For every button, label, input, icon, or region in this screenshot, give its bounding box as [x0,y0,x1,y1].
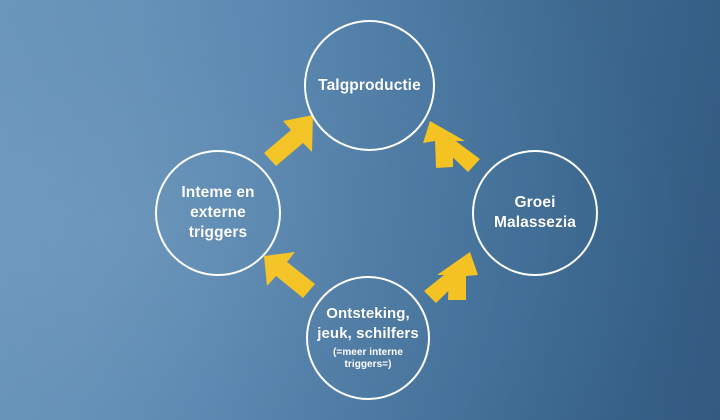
cycle-node-title: Groei Malassezia [494,193,576,233]
arrow-up-right-icon [258,110,320,170]
cycle-diagram-canvas: Talgproductie Groei Malassezia Ontstekin… [0,0,720,420]
cycle-node-interne-externe-triggers[interactable]: Inteme en externe triggers [155,150,281,276]
arrow-up-left-icon [258,248,322,310]
cycle-node-ontsteking-jeuk-schilfers[interactable]: Ontsteking, jeuk, schilfers (=meer inter… [306,276,430,400]
cycle-node-title: Talgproductie [318,76,421,96]
cycle-node-title: Ontsteking, jeuk, schilfers [317,304,419,342]
arrow-down-right-icon [420,115,486,179]
cycle-node-subtitle: (=meer interne triggers=) [333,347,403,372]
cycle-node-title: Inteme en externe triggers [181,183,254,242]
cycle-node-groei-malassezia[interactable]: Groei Malassezia [472,150,598,276]
arrow-down-left-icon [418,248,484,312]
cycle-node-talgproductie[interactable]: Talgproductie [304,20,435,151]
